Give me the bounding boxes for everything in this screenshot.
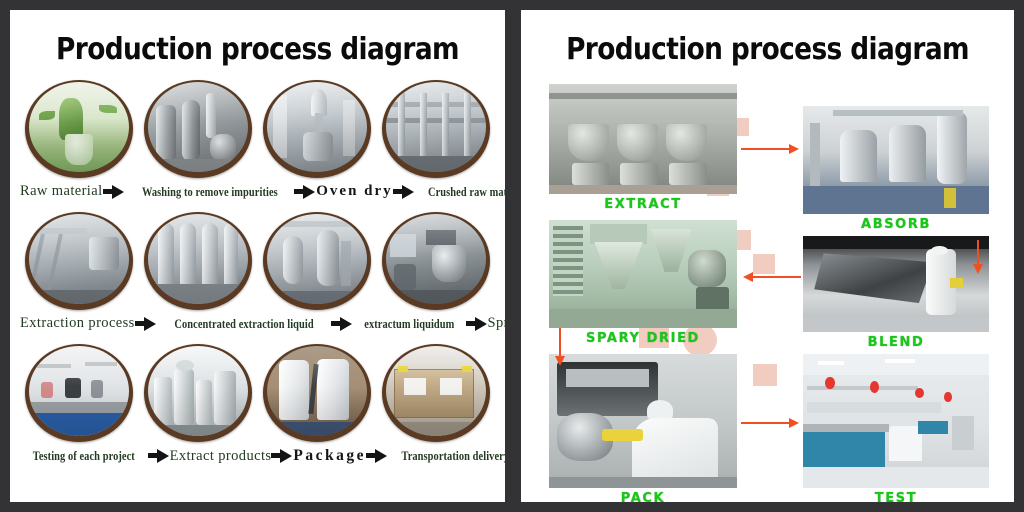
caption-package: Package [293, 447, 366, 465]
caption-row-3: Testing of each project Extract products… [10, 447, 505, 465]
process-cell-washing[interactable] [143, 80, 253, 178]
photo-bubble-crushed-raw-materials [382, 80, 490, 178]
process-cell-crushed-raw-materials[interactable] [381, 80, 491, 178]
arrow-right-icon-7 [148, 449, 170, 463]
right-process-grid: EXTRACT ABSORB [521, 76, 1014, 496]
photo-bubble-raw-material [25, 80, 133, 178]
arrow-right-icon-4 [135, 317, 157, 331]
photo-cell-pack[interactable]: PACK [549, 354, 737, 502]
photo-bubble-washing [144, 80, 252, 178]
watermark-block-4 [753, 254, 775, 274]
photo-bubble-testing-of-each-project [25, 344, 133, 442]
right-panel: Production process diagram [521, 10, 1014, 502]
caption-extraction-process: Extraction process [20, 315, 135, 332]
caption-oven-dry: Oven dry [316, 183, 392, 200]
screenshot-canvas: Production process diagram [0, 0, 1024, 512]
photo-bubble-extract-products [144, 344, 252, 442]
caption-washing: Washing to remove impurities [141, 184, 277, 200]
photo-bubble-extractum-liquidum [263, 212, 371, 310]
flow-arrow-absorb-to-blend [973, 240, 983, 274]
caption-extract-products: Extract products [170, 448, 272, 465]
process-row-2 [10, 212, 505, 310]
photo-label-pack: PACK [549, 488, 737, 502]
photo-pack [549, 354, 737, 488]
photo-absorb [803, 106, 989, 214]
process-cell-package[interactable] [262, 344, 372, 442]
right-panel-title: Production process diagram [551, 32, 985, 67]
photo-label-absorb: ABSORB [803, 214, 989, 236]
caption-raw-material: Raw material [20, 183, 103, 200]
arrow-right-icon-3 [393, 185, 415, 199]
caption-extractum-liquidum: extractum liquidum [364, 316, 454, 332]
caption-row-2: Extraction process Concentrated extracti… [10, 315, 505, 332]
photo-cell-spary-dried[interactable]: SPARY DRIED [549, 220, 737, 350]
process-row-3 [10, 344, 505, 442]
process-cell-testing-of-each-project[interactable] [24, 344, 134, 442]
arrow-right-icon-2 [294, 185, 316, 199]
process-cell-extractum-liquidum[interactable] [262, 212, 372, 310]
photo-label-blend: BLEND [803, 332, 989, 354]
photo-spary-dried [549, 220, 737, 328]
process-cell-spray-drying[interactable] [381, 212, 491, 310]
caption-testing-of-each-project: Testing of each project [33, 448, 135, 464]
photo-blend [803, 236, 989, 332]
arrow-right-icon-1 [103, 185, 125, 199]
photo-cell-extract[interactable]: EXTRACT [549, 84, 737, 216]
photo-cell-blend[interactable]: BLEND [803, 236, 989, 354]
watermark-block-7 [753, 364, 777, 386]
process-cell-raw-material[interactable] [24, 80, 134, 178]
left-panel: Production process diagram [10, 10, 505, 502]
flow-arrow-spary-dried-to-pack [555, 328, 565, 366]
arrow-right-icon-8 [271, 449, 293, 463]
left-panel-title: Production process diagram [40, 32, 476, 67]
process-cell-transportation-delivery[interactable] [381, 344, 491, 442]
photo-cell-test[interactable]: TEST [803, 354, 989, 502]
caption-concentrated-extraction-liquid: Concentrated extraction liquid [174, 316, 313, 332]
arrow-right-icon-6 [466, 317, 488, 331]
photo-label-test: TEST [803, 488, 989, 502]
flow-arrow-extract-to-absorb [741, 144, 799, 154]
left-process-grid: Raw material Washing to remove impuritie… [10, 80, 505, 465]
caption-crushed-raw-materials: Crushed raw materials [428, 184, 505, 200]
photo-bubble-transportation-delivery [382, 344, 490, 442]
caption-spray-drying: Spray drying [488, 315, 505, 332]
process-row-1 [10, 80, 505, 178]
flow-arrow-pack-to-test [741, 418, 799, 428]
photo-bubble-package [263, 344, 371, 442]
photo-extract [549, 84, 737, 194]
photo-bubble-spray-drying [382, 212, 490, 310]
photo-cell-absorb[interactable]: ABSORB [803, 106, 989, 236]
flow-arrow-blend-to-spary-dried [743, 272, 801, 282]
photo-label-extract: EXTRACT [549, 194, 737, 216]
photo-bubble-extraction-process [25, 212, 133, 310]
arrow-right-icon-9 [366, 449, 388, 463]
process-cell-extraction-process[interactable] [24, 212, 134, 310]
process-cell-extract-products[interactable] [143, 344, 253, 442]
caption-row-1: Raw material Washing to remove impuritie… [10, 183, 505, 200]
process-cell-concentrated-extraction-liquid[interactable] [143, 212, 253, 310]
photo-bubble-concentrated-extraction-liquid [144, 212, 252, 310]
photo-test [803, 354, 989, 488]
arrow-right-icon-5 [331, 317, 353, 331]
caption-transportation-delivery: Transportation delivery [401, 448, 505, 464]
photo-bubble-oven-dry [263, 80, 371, 178]
photo-label-spary-dried: SPARY DRIED [549, 328, 737, 350]
process-cell-oven-dry[interactable] [262, 80, 372, 178]
